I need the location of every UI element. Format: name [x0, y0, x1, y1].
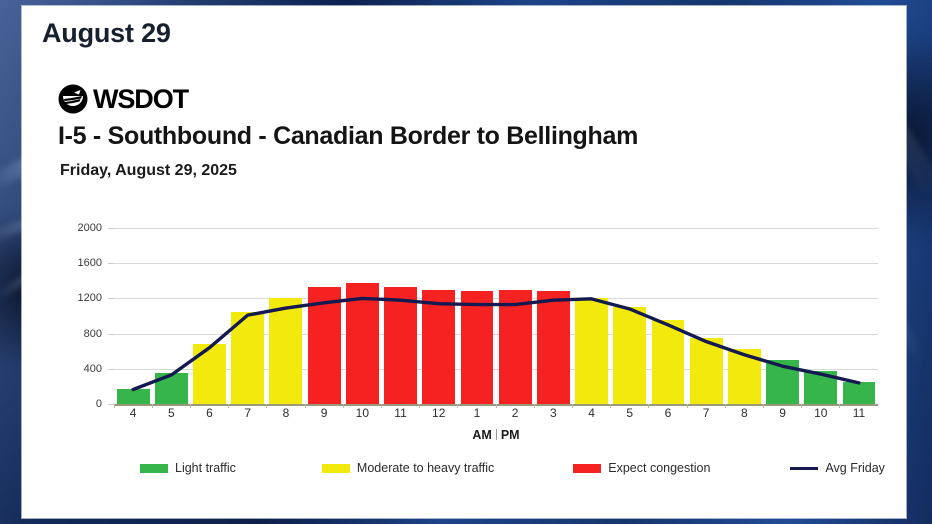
- x-axis-tick-label: 4: [572, 406, 610, 426]
- legend-label: Moderate to heavy traffic: [357, 461, 494, 475]
- bar-10-light: [804, 371, 837, 404]
- legend-label: Light traffic: [175, 461, 236, 475]
- bar-10-congestion: [346, 283, 379, 404]
- bar-slot: [458, 228, 496, 404]
- bar-slot: [534, 228, 572, 404]
- legend-item: Moderate to heavy traffic: [322, 461, 494, 475]
- bar-slot: [763, 228, 801, 404]
- x-axis-tick-label: 4: [114, 406, 152, 426]
- bar-slot: [267, 228, 305, 404]
- y-axis-tick-label: 0: [96, 398, 102, 410]
- y-axis-tick-label: 1600: [78, 257, 102, 269]
- chart-subtitle: Friday, August 29, 2025: [60, 162, 237, 180]
- x-axis-tick-label: 7: [229, 406, 267, 426]
- bar-slot: [343, 228, 381, 404]
- bar-slot: [840, 228, 878, 404]
- bar-6-moderate: [652, 320, 685, 404]
- x-axis-tick-label: 2: [496, 406, 534, 426]
- bar-slot: [496, 228, 534, 404]
- bar-4-moderate: [575, 298, 608, 404]
- y-axis-tick-label: 800: [84, 328, 102, 340]
- x-axis-tick-label: 3: [534, 406, 572, 426]
- bar-slot: [649, 228, 687, 404]
- bar-slot: [114, 228, 152, 404]
- bar-2-congestion: [499, 290, 532, 404]
- legend-item: Light traffic: [140, 461, 236, 475]
- x-axis-labels: 4567891011121234567891011: [114, 406, 878, 426]
- chart-title: I-5 - Southbound - Canadian Border to Be…: [58, 122, 638, 151]
- x-axis-tick-label: 6: [190, 406, 228, 426]
- y-axis-tick-label: 1200: [78, 292, 102, 304]
- bar-slot: [381, 228, 419, 404]
- bar-slot: [190, 228, 228, 404]
- bar-slot: [572, 228, 610, 404]
- pm-label: PM: [501, 428, 520, 442]
- chart-legend: Light trafficModerate to heavy trafficEx…: [58, 461, 878, 475]
- slide-title: August 29: [42, 18, 171, 49]
- wsdot-logo-icon: [58, 84, 88, 114]
- legend-label: Avg Friday: [825, 461, 885, 475]
- bar-8-moderate: [728, 349, 761, 404]
- green-swatch-icon: [140, 464, 168, 473]
- bar-11-congestion: [384, 287, 417, 404]
- legend-label: Expect congestion: [608, 461, 710, 475]
- traffic-volume-chart: 0400800120016002000 45678910111212345678…: [58, 228, 878, 428]
- legend-item: Expect congestion: [573, 461, 710, 475]
- ampm-axis-label: AMPM: [114, 428, 878, 442]
- x-axis-tick-label: 8: [267, 406, 305, 426]
- bar-slot: [725, 228, 763, 404]
- x-axis-tick-label: 10: [343, 406, 381, 426]
- x-axis-tick-label: 1: [458, 406, 496, 426]
- x-axis-tick-label: 12: [420, 406, 458, 426]
- plot-area: [114, 228, 878, 404]
- bar-8-moderate: [269, 298, 302, 404]
- bar-6-moderate: [193, 344, 226, 404]
- yellow-swatch-icon: [322, 464, 350, 473]
- navy-line-icon: [790, 467, 818, 470]
- x-axis-tick-label: 10: [802, 406, 840, 426]
- bar-9-light: [766, 360, 799, 404]
- bar-slot: [802, 228, 840, 404]
- bar-slot: [229, 228, 267, 404]
- y-axis-tick-label: 400: [84, 363, 102, 375]
- bar-5-light: [155, 373, 188, 404]
- x-axis-tick-label: 5: [152, 406, 190, 426]
- x-axis-tick-label: 9: [305, 406, 343, 426]
- bar-11-light: [843, 382, 876, 404]
- y-axis-tick-label: 2000: [78, 222, 102, 234]
- bar-9-congestion: [308, 287, 341, 404]
- screenshot-root: August 29 WSDOT I-5 - Southbound - Canad…: [0, 0, 932, 524]
- bar-series: [114, 228, 878, 404]
- bar-7-moderate: [690, 338, 723, 404]
- x-axis-tick-label: 5: [611, 406, 649, 426]
- bar-5-moderate: [613, 307, 646, 404]
- bar-12-congestion: [422, 290, 455, 404]
- y-axis-labels: 0400800120016002000: [58, 228, 108, 404]
- x-axis-tick-label: 11: [840, 406, 878, 426]
- wsdot-logo: WSDOT: [58, 84, 188, 114]
- x-axis-tick-label: 8: [725, 406, 763, 426]
- x-axis-tick-label: 7: [687, 406, 725, 426]
- bar-3-congestion: [537, 291, 570, 404]
- bar-slot: [152, 228, 190, 404]
- bar-slot: [687, 228, 725, 404]
- wsdot-wordmark: WSDOT: [93, 86, 188, 113]
- x-axis-tick-label: 9: [763, 406, 801, 426]
- ampm-divider-icon: [496, 429, 497, 440]
- slide-card: August 29 WSDOT I-5 - Southbound - Canad…: [22, 6, 906, 518]
- bar-slot: [305, 228, 343, 404]
- bar-1-congestion: [461, 291, 494, 404]
- red-swatch-icon: [573, 464, 601, 473]
- x-axis-tick-label: 6: [649, 406, 687, 426]
- bar-7-moderate: [231, 312, 264, 404]
- bar-4-light: [117, 389, 150, 404]
- am-label: AM: [472, 428, 491, 442]
- bar-slot: [420, 228, 458, 404]
- x-axis-tick-label: 11: [381, 406, 419, 426]
- bar-slot: [611, 228, 649, 404]
- legend-item: Avg Friday: [790, 461, 885, 475]
